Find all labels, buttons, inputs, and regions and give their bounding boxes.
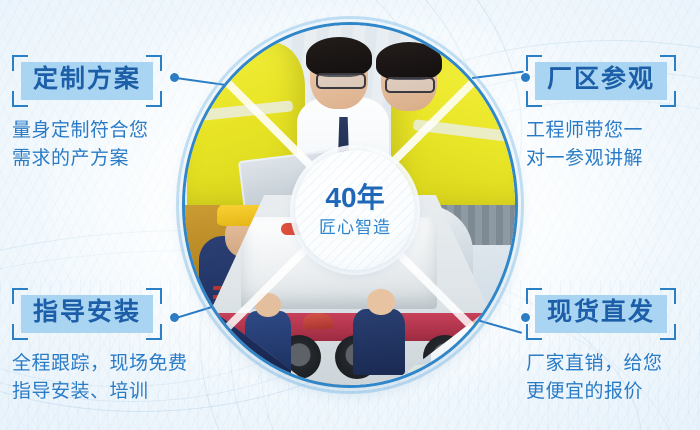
feature-stock-shipping[interactable]: 现货直发 厂家直销，给您 更便宜的报价 xyxy=(526,288,700,407)
feature-title-frame: 厂区参观 xyxy=(526,55,676,107)
feature-desc-install-guidance: 全程跟踪，现场免费 指导安装、培训 xyxy=(12,350,212,408)
bracket-corner-icon xyxy=(526,55,542,71)
poster-stage: 40年 匠心智造 定制方案 量身定制符合您 需求的产方案 厂区参观 工程师带您一… xyxy=(0,0,700,430)
feature-factory-visit[interactable]: 厂区参观 工程师带您一 对一参观讲解 xyxy=(526,55,700,174)
photo-collage-wheel: 40年 匠心智造 xyxy=(185,25,515,385)
bracket-corner-icon xyxy=(146,91,162,107)
bracket-corner-icon xyxy=(146,324,162,340)
feature-title-factory-visit: 厂区参观 xyxy=(535,62,667,100)
bracket-corner-icon xyxy=(526,324,542,340)
bracket-corner-icon xyxy=(146,288,162,304)
bracket-corner-icon xyxy=(660,55,676,71)
bracket-corner-icon xyxy=(12,91,28,107)
center-badge-sub-text: 匠心智造 xyxy=(319,219,391,236)
feature-title-frame: 指导安装 xyxy=(12,288,162,340)
feature-desc-stock-shipping: 厂家直销，给您 更便宜的报价 xyxy=(526,350,700,408)
feature-title-frame: 定制方案 xyxy=(12,55,162,107)
feature-desc-custom-plan: 量身定制符合您 需求的产方案 xyxy=(12,117,212,175)
feature-title-custom-plan: 定制方案 xyxy=(21,62,153,100)
center-badge-main-text: 40年 xyxy=(325,184,384,212)
bracket-corner-icon xyxy=(660,324,676,340)
feature-desc-factory-visit: 工程师带您一 对一参观讲解 xyxy=(526,117,700,175)
bracket-corner-icon xyxy=(12,288,28,304)
center-badge: 40年 匠心智造 xyxy=(295,150,415,270)
feature-custom-plan[interactable]: 定制方案 量身定制符合您 需求的产方案 xyxy=(12,55,212,174)
bracket-corner-icon xyxy=(526,288,542,304)
feature-title-stock-shipping: 现货直发 xyxy=(535,295,667,333)
bracket-corner-icon xyxy=(12,55,28,71)
bracket-corner-icon xyxy=(12,324,28,340)
bracket-corner-icon xyxy=(526,91,542,107)
bracket-corner-icon xyxy=(660,288,676,304)
feature-title-frame: 现货直发 xyxy=(526,288,676,340)
bracket-corner-icon xyxy=(146,55,162,71)
bracket-corner-icon xyxy=(660,91,676,107)
feature-title-install-guidance: 指导安装 xyxy=(21,295,153,333)
feature-install-guidance[interactable]: 指导安装 全程跟踪，现场免费 指导安装、培训 xyxy=(12,288,212,407)
